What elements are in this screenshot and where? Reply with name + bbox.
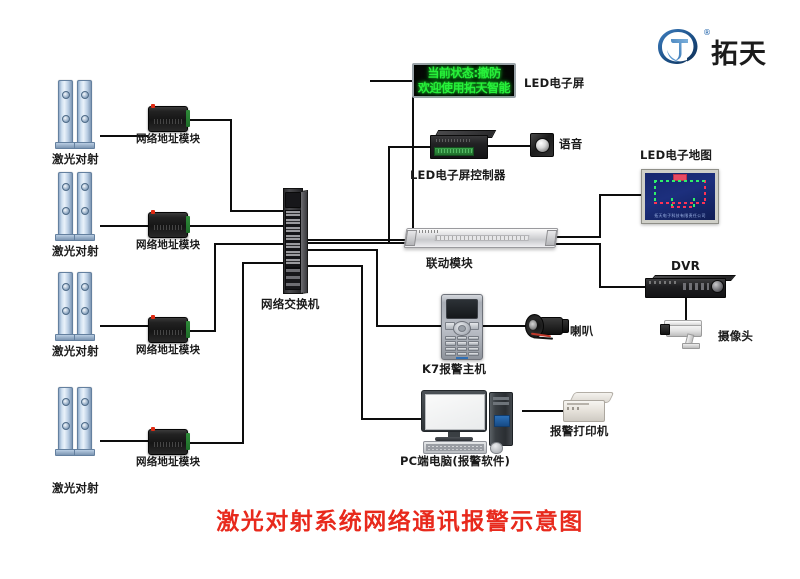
dvr-print bbox=[649, 281, 679, 284]
alarm-host-brand-mark bbox=[456, 357, 468, 359]
laser-pillar-right bbox=[77, 172, 92, 236]
diagram-canvas: ® 拓天 bbox=[0, 0, 800, 579]
status-led-icon bbox=[151, 210, 155, 214]
link-linkage-dvr-v bbox=[599, 243, 601, 287]
terminal-connector bbox=[186, 216, 190, 233]
link-laser4-module4 bbox=[100, 440, 148, 442]
alarm-host-device[interactable] bbox=[441, 294, 483, 360]
laser-pillar-left bbox=[58, 80, 73, 144]
pc-mouse[interactable] bbox=[490, 442, 503, 454]
link-module3-to-switch bbox=[214, 243, 285, 245]
laser-base-left bbox=[55, 142, 76, 149]
pc-screen bbox=[425, 394, 485, 430]
laser-detector-2-label: 激光对射 bbox=[52, 246, 99, 258]
laser-detector-1-label: 激光对射 bbox=[52, 154, 99, 166]
link-switch-ledctrl bbox=[388, 146, 432, 148]
laser-detector-1[interactable] bbox=[58, 80, 102, 150]
keypad-key[interactable] bbox=[445, 341, 456, 345]
alarm-printer-device[interactable] bbox=[563, 392, 607, 422]
brand-logo: ® 拓天 bbox=[655, 26, 785, 66]
link-switch-pc-h1 bbox=[305, 265, 363, 267]
led-map-label: LED电子地图 bbox=[640, 150, 712, 162]
network-address-module-2[interactable] bbox=[148, 212, 188, 238]
keypad-key[interactable] bbox=[457, 336, 468, 340]
alarm-host-label: K7报警主机 bbox=[422, 364, 486, 376]
switch-ports bbox=[285, 210, 301, 268]
module-print bbox=[154, 330, 182, 335]
laser-base-left bbox=[55, 234, 76, 241]
printer-paper-slot bbox=[567, 403, 589, 405]
laser-pillar-right bbox=[77, 387, 92, 451]
link-switch-pc-v bbox=[361, 265, 363, 420]
laser-pillar-right bbox=[77, 272, 92, 336]
link-switch-ledscreen-h2 bbox=[370, 80, 414, 82]
switch-side bbox=[301, 190, 308, 294]
link-linkage-ledmap-h2 bbox=[599, 194, 642, 196]
pc-label: PC端电脑(报警软件) bbox=[400, 456, 510, 468]
camera-lens-icon bbox=[660, 324, 670, 335]
laser-detector-4[interactable] bbox=[58, 387, 102, 457]
link-linkage-ledmap-v bbox=[599, 194, 601, 238]
alarm-host-keypad[interactable] bbox=[445, 336, 479, 356]
horn-driver bbox=[529, 320, 537, 330]
keypad-key[interactable] bbox=[457, 341, 468, 345]
led-display-label: LED电子屏 bbox=[524, 78, 584, 90]
laser-pillar-left bbox=[58, 272, 73, 336]
network-address-module-1-label: 网络地址模块 bbox=[136, 134, 200, 145]
laser-base-left bbox=[55, 449, 76, 456]
controller-print bbox=[436, 139, 470, 142]
laser-base-right bbox=[74, 142, 95, 149]
printer-indicators bbox=[567, 407, 581, 410]
pc-tower[interactable] bbox=[489, 392, 513, 446]
dvr-label: DVR bbox=[671, 260, 700, 272]
network-address-module-3[interactable] bbox=[148, 317, 188, 343]
link-switch-k7-h1 bbox=[305, 249, 378, 251]
network-address-module-2-label: 网络地址模块 bbox=[136, 240, 200, 251]
speaker-icon bbox=[535, 138, 550, 153]
controller-terminal-block bbox=[434, 147, 474, 156]
laser-detector-3[interactable] bbox=[58, 272, 102, 342]
keypad-key[interactable] bbox=[445, 347, 456, 351]
pc-drive-bay bbox=[493, 402, 509, 405]
link-module1-to-switch bbox=[230, 210, 285, 212]
status-led-icon bbox=[151, 427, 155, 431]
pc-front-panel bbox=[494, 415, 510, 427]
link-module3-v bbox=[214, 243, 216, 332]
keypad-key[interactable] bbox=[468, 341, 479, 345]
terminal-connector bbox=[186, 321, 190, 338]
link-module1-h bbox=[188, 119, 232, 121]
link-linkage-dvr-h1 bbox=[551, 243, 601, 245]
alarm-host-display bbox=[446, 299, 478, 319]
tuotian-logo-icon bbox=[655, 26, 701, 66]
link-linkage-dvr-h2 bbox=[599, 286, 646, 288]
link-module2-to-switch bbox=[188, 225, 285, 227]
alarm-host-navpad-center[interactable] bbox=[458, 325, 466, 332]
link-pc-printer bbox=[522, 410, 568, 412]
camera-device[interactable] bbox=[660, 320, 710, 350]
linkage-slot bbox=[435, 235, 530, 241]
led-line-2: 欢迎使用拓天智能 bbox=[416, 81, 512, 96]
led-line-1: 当前状态:撤防 bbox=[416, 66, 512, 81]
registered-mark: ® bbox=[703, 28, 711, 37]
link-module4-to-switch bbox=[242, 262, 285, 264]
link-switch-pc-h2 bbox=[361, 418, 421, 420]
pc-keyboard[interactable] bbox=[423, 441, 487, 454]
link-ledctrl-voice bbox=[488, 145, 531, 147]
dvr-jog-knob[interactable] bbox=[711, 280, 724, 293]
link-laser2-module2 bbox=[100, 225, 148, 227]
network-address-module-1[interactable] bbox=[148, 106, 188, 132]
pc-drive-bay bbox=[493, 397, 509, 400]
led-map-display[interactable]: 拓天电子科技有限责任公司 bbox=[641, 169, 719, 224]
brand-name: 拓天 bbox=[711, 32, 767, 71]
link-module3-h bbox=[188, 330, 216, 332]
network-address-module-3-label: 网络地址模块 bbox=[136, 345, 200, 356]
voice-label: 语音 bbox=[559, 139, 582, 151]
dvr-device[interactable] bbox=[645, 275, 729, 297]
camera-mount-foot bbox=[682, 343, 700, 349]
laser-pillar-left bbox=[58, 172, 73, 236]
laser-base-right bbox=[74, 449, 95, 456]
laser-base-right bbox=[74, 334, 95, 341]
link-module4-v bbox=[242, 262, 244, 444]
keypad-key[interactable] bbox=[445, 336, 456, 340]
led-controller-label: LED电子屏控制器 bbox=[410, 170, 506, 182]
link-switch-ledscreen-v bbox=[412, 80, 414, 243]
diagram-title: 激光对射系统网络通讯报警示意图 bbox=[0, 502, 800, 536]
laser-detector-2[interactable] bbox=[58, 172, 102, 242]
laser-detector-3-label: 激光对射 bbox=[52, 346, 99, 358]
switch-blank-panel bbox=[285, 192, 301, 208]
laser-base-left bbox=[55, 334, 76, 341]
alarm-printer-label: 报警打印机 bbox=[550, 426, 609, 438]
link-switch-ledscreen-h1 bbox=[305, 242, 414, 244]
link-switch-k7-h2 bbox=[376, 325, 442, 327]
link-module1-v bbox=[230, 119, 232, 212]
keypad-key[interactable] bbox=[445, 352, 456, 356]
link-ledctrl-v bbox=[388, 146, 390, 243]
network-address-module-4-label: 网络地址模块 bbox=[136, 457, 200, 468]
link-linkage-ledmap-h1 bbox=[551, 236, 601, 238]
laser-pillar-left bbox=[58, 387, 73, 451]
linkage-print bbox=[419, 230, 439, 233]
network-switch-label: 网络交换机 bbox=[261, 299, 320, 311]
laser-base-right bbox=[74, 234, 95, 241]
camera-label: 摄像头 bbox=[718, 331, 753, 343]
link-switch-linkage bbox=[305, 239, 407, 241]
terminal-connector bbox=[186, 433, 190, 450]
link-k7-horn bbox=[482, 325, 528, 327]
horn-wire-black bbox=[533, 336, 553, 339]
link-module4-h bbox=[188, 442, 244, 444]
keypad-key[interactable] bbox=[457, 352, 468, 356]
network-address-module-4[interactable] bbox=[148, 429, 188, 455]
pc-workstation[interactable] bbox=[417, 390, 525, 452]
switch-uplink-ports bbox=[285, 268, 301, 290]
led-map-caption: 拓天电子科技有限责任公司 bbox=[645, 213, 715, 219]
module-print bbox=[154, 442, 182, 447]
link-switch-k7-v bbox=[376, 249, 378, 327]
laser-pillar-right bbox=[77, 80, 92, 144]
linkage-module-device[interactable] bbox=[405, 228, 555, 250]
voice-speaker-device[interactable] bbox=[530, 133, 554, 157]
status-led-icon bbox=[151, 315, 155, 319]
horn-speaker-device[interactable] bbox=[525, 312, 571, 340]
keypad-key[interactable] bbox=[468, 336, 479, 340]
led-map-notch bbox=[671, 198, 695, 208]
module-print bbox=[154, 119, 182, 124]
keypad-key[interactable] bbox=[468, 352, 479, 356]
pc-monitor[interactable] bbox=[421, 390, 487, 432]
led-map-screen: 拓天电子科技有限责任公司 bbox=[645, 173, 715, 220]
led-display-panel[interactable]: 当前状态:撤防 欢迎使用拓天智能 bbox=[412, 63, 516, 98]
horn-label: 喇叭 bbox=[570, 326, 593, 338]
keypad-key[interactable] bbox=[468, 347, 479, 351]
led-controller-device[interactable] bbox=[430, 130, 490, 158]
linkage-module-label: 联动模块 bbox=[426, 258, 473, 270]
module-print bbox=[154, 225, 182, 230]
laser-detector-4-label: 激光对射 bbox=[52, 483, 99, 495]
network-switch[interactable] bbox=[283, 188, 307, 292]
link-laser3-module3 bbox=[100, 325, 148, 327]
keypad-key[interactable] bbox=[457, 347, 468, 351]
terminal-connector bbox=[186, 110, 190, 127]
dvr-buttons[interactable] bbox=[683, 283, 709, 290]
status-led-icon bbox=[151, 104, 155, 108]
